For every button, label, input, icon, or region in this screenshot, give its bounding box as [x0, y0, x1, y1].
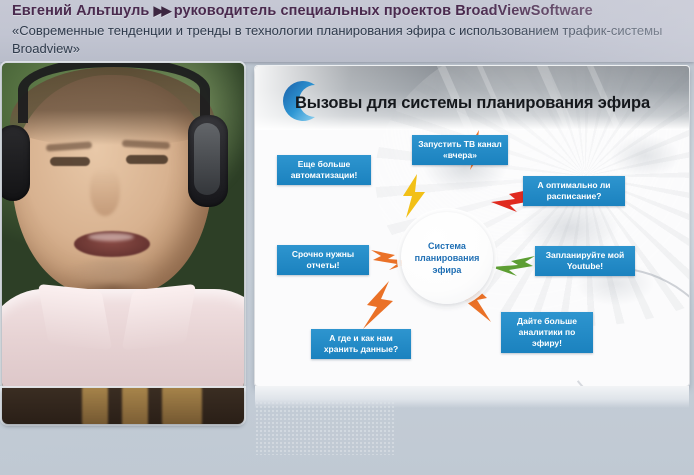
lightning-bolt-orange-bottomleft-icon — [363, 281, 397, 329]
webcam-feed-lower-strip[interactable] — [2, 388, 244, 424]
speaker-name-and-role: Евгений Альтшуль ▶▶ руководитель специал… — [12, 3, 690, 19]
callout-storage[interactable]: А где и как нам хранить данные? — [311, 329, 411, 359]
slide-bottom-edge — [255, 386, 689, 408]
presentation-slide[interactable]: Вызовы для системы планирования эфира Си… — [255, 66, 689, 386]
callout-reports[interactable]: Срочно нужны отчеты! — [277, 245, 369, 275]
hair-strand — [82, 388, 108, 424]
callout-schedule[interactable]: А оптимально ли расписание? — [523, 176, 625, 206]
callout-tv-channel[interactable]: Запустить ТВ канал «вчера» — [412, 135, 508, 165]
center-node-system[interactable]: Система планирования эфира — [401, 212, 493, 304]
webcam-vignette — [2, 63, 244, 388]
hair-strand — [122, 388, 148, 424]
talk-title: «Современные тенденции и тренды в технол… — [12, 22, 688, 58]
speaker-header-banner: Евгений Альтшуль ▶▶ руководитель специал… — [0, 0, 694, 62]
presentation-stage: Евгений Альтшуль ▶▶ руководитель специал… — [0, 0, 694, 475]
speaker-role: руководитель специальных проектов BroadV… — [174, 3, 593, 19]
speaker-webcam-feed[interactable] — [2, 63, 244, 388]
double-arrow-icon: ▶▶ — [154, 3, 170, 18]
hair-strand — [162, 388, 202, 424]
lightning-bolt-yellow-icon — [401, 174, 427, 218]
slide-title: Вызовы для системы планирования эфира — [295, 94, 689, 113]
center-node-label: Система планирования эфира — [401, 240, 493, 276]
lightning-bolt-green-icon — [491, 254, 535, 276]
callout-analytics[interactable]: Дайте больше аналитики по эфиру! — [501, 312, 593, 353]
speaker-name: Евгений Альтшуль — [12, 3, 149, 19]
callout-youtube[interactable]: Запланируйте мой Youtube! — [535, 246, 635, 276]
callout-automation[interactable]: Еще больше автоматизации! — [277, 155, 371, 185]
